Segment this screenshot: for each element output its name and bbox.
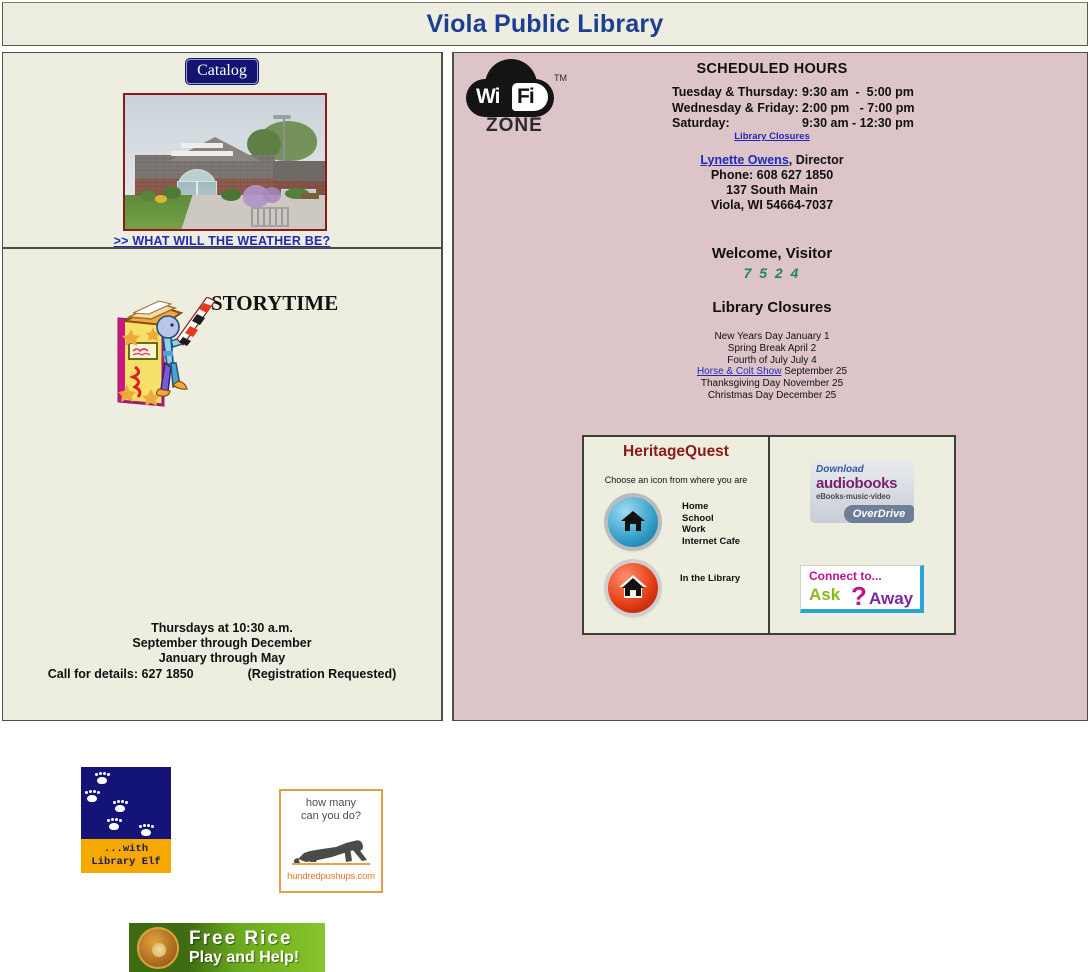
pushups-line2: can you do? <box>285 810 377 823</box>
heritage-quest-in-library-label: In the Library <box>680 573 740 584</box>
heritage-quest-options: Home School Work Internet Cafe In the Li… <box>584 495 768 625</box>
catalog-button[interactable]: Catalog <box>186 59 258 84</box>
storytime-jester-book-icon <box>111 297 221 409</box>
heritage-quest-location: Home <box>682 501 740 513</box>
ask-away-away-text: Away <box>869 589 913 609</box>
library-elf-caption: ...with Library Elf <box>81 839 171 873</box>
page-title: Viola Public Library <box>427 10 664 39</box>
schedule-row: Tuesday & Thursday: 9:30 am - 5:00 pm <box>672 85 928 101</box>
rice-bowl-icon <box>137 927 179 969</box>
library-closures-link-top[interactable]: Library Closures <box>454 131 1090 142</box>
storytime-details: Thursdays at 10:30 a.m. September throug… <box>3 621 441 682</box>
storytime-section: STORYTIME <box>3 249 441 718</box>
library-elf-pawprints <box>81 767 171 839</box>
closure-item: Thanksgiving Day November 25 <box>454 378 1090 390</box>
closure-item: New Years Day January 1 <box>454 331 1090 343</box>
heritage-quest-location: School <box>682 513 740 525</box>
heritage-quest-location: Work <box>682 524 740 536</box>
photo-gable <box>169 137 261 161</box>
ask-away-badge[interactable]: Connect to... Ask ? Away <box>800 565 924 613</box>
heritage-quest-box: HeritageQuest Choose an icon from where … <box>582 435 770 635</box>
hundred-pushups-badge[interactable]: how many can you do? hundredpushups.com <box>279 789 383 893</box>
schedule-row: Saturday: 9:30 am - 12:30 pm <box>672 116 928 132</box>
welcome-message: Welcome, Visitor <box>454 245 1090 262</box>
director-line: Lynette Owens, Director <box>454 153 1090 168</box>
free-rice-banner[interactable]: Free Rice Play and Help! <box>129 923 325 972</box>
wifi-wi-text: Wi <box>476 83 499 111</box>
closure-item: Christmas Day December 25 <box>454 390 1090 402</box>
library-photo[interactable] <box>123 93 327 231</box>
photo-shrub <box>141 190 155 201</box>
heritage-quest-subtitle: Choose an icon from where you are <box>584 475 768 485</box>
right-panel: Wi Fi TM ZONE SCHEDULED HOURS Tuesday & … <box>452 52 1088 721</box>
storytime-title: STORYTIME <box>211 291 338 316</box>
overdrive-badge[interactable]: Download audiobooks eBooks·music·video O… <box>810 459 914 523</box>
digital-resources-box: Download audiobooks eBooks·music·video O… <box>768 435 956 635</box>
library-homepage: Viola Public Library Catalog <box>0 0 1090 723</box>
library-address-line2: Viola, WI 54664-7037 <box>454 198 1090 213</box>
overdrive-download-label: Download <box>816 464 908 475</box>
storytime-line1: Thursdays at 10:30 a.m. <box>3 621 441 636</box>
storytime-header: STORYTIME <box>3 249 441 369</box>
library-phone: Phone: 608 627 1850 <box>454 168 1090 183</box>
overdrive-formats-label: eBooks·music·video <box>816 492 908 501</box>
storytime-call-row: Call for details: 627 1850 (Registration… <box>3 667 441 682</box>
schedule-days: Saturday: <box>672 116 802 132</box>
director-title: , Director <box>789 153 844 167</box>
paw-print-icon <box>139 825 153 836</box>
closure-item: Fourth of July July 4 <box>454 355 1090 367</box>
trademark-icon: TM <box>554 73 567 83</box>
library-elf-line2: Library Elf <box>91 856 160 869</box>
closure-item: Horse & Colt Show September 25 <box>454 366 1090 378</box>
library-elf-badge[interactable]: ...with Library Elf <box>81 767 171 873</box>
paw-print-icon <box>107 819 121 830</box>
horse-colt-show-link[interactable]: Horse & Colt Show <box>697 366 781 377</box>
page-header: Viola Public Library <box>2 2 1088 46</box>
heritage-quest-location: Internet Cafe <box>682 536 740 548</box>
paw-print-icon <box>95 773 109 784</box>
pushup-figure-icon <box>288 829 374 869</box>
library-address-line1: 137 South Main <box>454 183 1090 198</box>
photo-roof-right <box>273 161 325 183</box>
schedule-table: Tuesday & Thursday: 9:30 am - 5:00 pm We… <box>672 85 928 132</box>
free-rice-text: Free Rice Play and Help! <box>189 929 299 966</box>
visitor-counter: 7 5 2 4 <box>454 265 1090 281</box>
photo-railing <box>251 207 289 227</box>
library-closures-list: New Years Day January 1 Spring Break Apr… <box>454 331 1090 402</box>
pushups-ground-line <box>292 863 370 865</box>
paw-print-icon <box>85 791 99 802</box>
heritage-quest-home-button-red[interactable] <box>608 563 658 613</box>
photo-flowers <box>263 187 281 203</box>
pushups-url: hundredpushups.com <box>285 871 377 882</box>
heritage-quest-title: HeritageQuest <box>584 443 768 461</box>
paw-print-icon <box>113 801 127 812</box>
catalog-section: Catalog <box>3 53 441 249</box>
house-icon <box>618 574 648 605</box>
ask-away-wordmark: Ask ? Away <box>809 583 920 609</box>
schedule-time: 2:00 pm - 7:00 pm <box>802 101 915 117</box>
closure-item-date: September 25 <box>781 366 847 377</box>
pushups-line1: how many <box>285 797 377 810</box>
schedule-title: SCHEDULED HOURS <box>454 61 1090 77</box>
director-contact-block: Lynette Owens, Director Phone: 608 627 1… <box>454 153 1090 213</box>
photo-bench <box>301 193 319 199</box>
photo-lamp-head <box>273 115 291 119</box>
weather-link[interactable]: >> WHAT WILL THE WEATHER BE? <box>3 234 441 248</box>
library-elf-line1: ...with <box>104 843 148 856</box>
heritage-quest-home-button-blue[interactable] <box>608 497 658 547</box>
question-mark-icon: ? <box>851 581 867 612</box>
heritage-quest-location-list: Home School Work Internet Cafe <box>682 501 740 547</box>
overdrive-brand-label: OverDrive <box>844 505 914 523</box>
director-name-link[interactable]: Lynette Owens <box>700 153 788 167</box>
storytime-registration: (Registration Requested) <box>248 667 397 682</box>
schedule-days: Wednesday & Friday: <box>672 101 802 117</box>
overdrive-audiobooks-label: audiobooks <box>816 475 908 492</box>
closure-item: Spring Break April 2 <box>454 343 1090 355</box>
free-rice-line1: Free Rice <box>189 929 299 949</box>
ask-away-ask-text: Ask <box>809 585 840 605</box>
left-panel: Catalog <box>2 52 443 721</box>
house-icon <box>620 509 646 538</box>
schedule-row: Wednesday & Friday: 2:00 pm - 7:00 pm <box>672 101 928 117</box>
schedule-time: 9:30 am - 5:00 pm <box>802 85 914 101</box>
storytime-line2: September through December <box>3 636 441 651</box>
free-rice-line2: Play and Help! <box>189 949 299 966</box>
schedule-days: Tuesday & Thursday: <box>672 85 802 101</box>
storytime-call: Call for details: 627 1850 <box>48 667 194 682</box>
wifi-fi-text: Fi <box>517 83 534 111</box>
catalog-button-wrap: Catalog <box>3 53 441 84</box>
schedule-time: 9:30 am - 12:30 pm <box>802 116 914 132</box>
storytime-line3: January through May <box>3 651 441 666</box>
photo-shrub <box>221 189 241 201</box>
photo-flowers <box>155 195 167 203</box>
library-closures-heading: Library Closures <box>454 299 1090 316</box>
photo-sign-line1 <box>181 143 223 148</box>
photo-sign-line2 <box>171 151 233 156</box>
